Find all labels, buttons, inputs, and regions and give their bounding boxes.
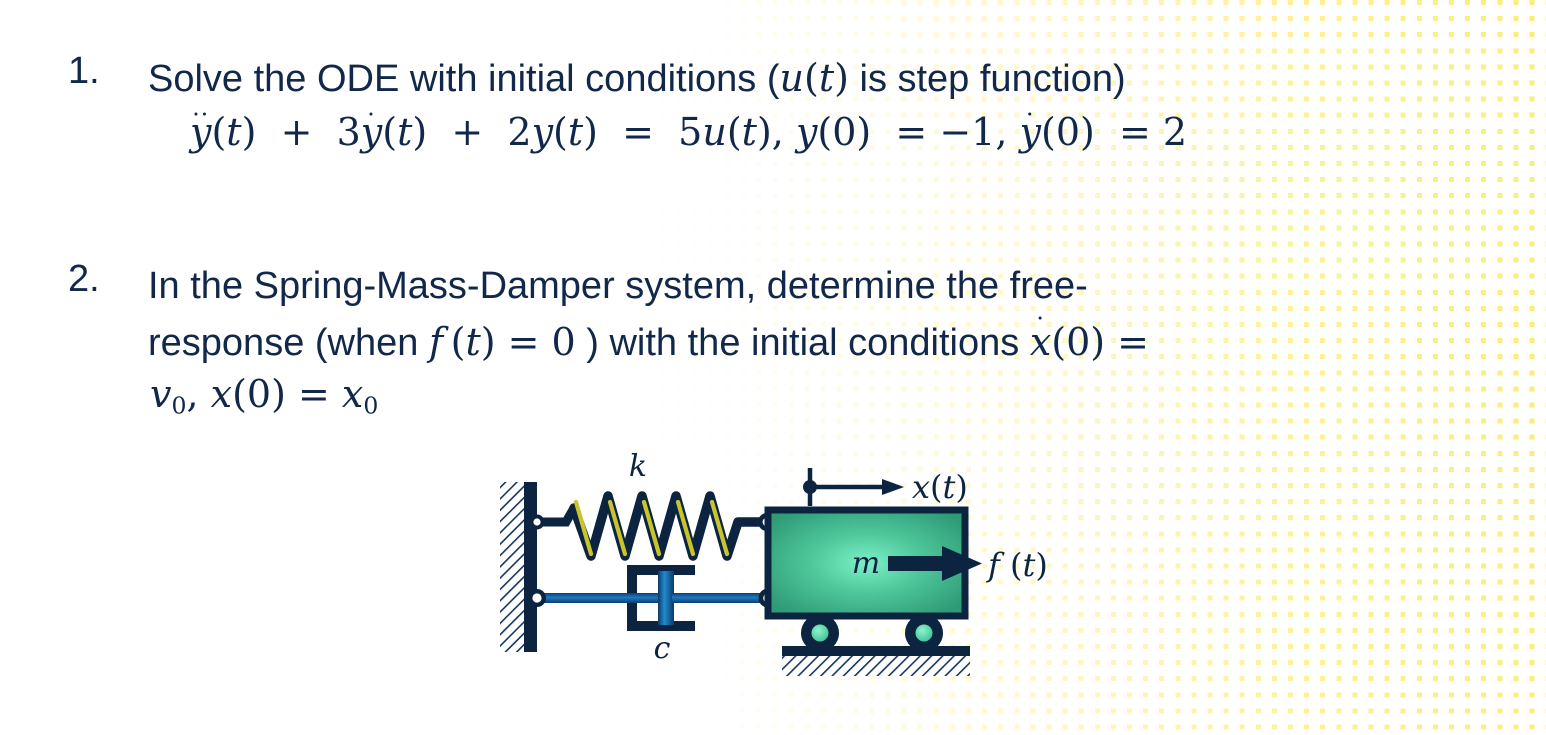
question-1-prompt-math-arg: (t) <box>804 56 849 100</box>
x-paren-zero: (0) <box>232 372 286 416</box>
spring-wall-pin-center <box>533 518 540 525</box>
eq-y-initial: −1 <box>939 110 995 154</box>
force-arrow-shaft <box>888 556 946 571</box>
eq-paren-5: (0) <box>817 110 871 154</box>
spring-label-k: k <box>629 449 647 484</box>
spring-mass-damper-diagram: k c <box>490 440 1050 690</box>
wall-support <box>500 482 537 652</box>
x-single-dot: x· <box>1030 314 1051 371</box>
question-1-prompt-math: u <box>780 56 804 100</box>
wheel-left-hub <box>812 625 829 642</box>
force-label-ft: f (t) <box>986 546 1048 584</box>
damper-assembly: c <box>528 570 778 666</box>
eq-comma-1: , <box>772 110 796 154</box>
xdot-initial-math: x·(0) = <box>1030 320 1149 364</box>
question-2-line-3: v0, x(0) = x0 <box>150 372 378 420</box>
eq-equals-1: = <box>610 110 666 154</box>
x-subscript-zero: 0 <box>363 392 378 420</box>
question-2-number: 2. <box>68 260 100 298</box>
eq-coef-damping: 3 <box>337 110 361 154</box>
question-1-equation: y··(t) + 3y·(t) + 2y(t) = 5u(t), y(0) = … <box>190 110 1187 154</box>
v-subscript-zero: 0 <box>171 392 186 420</box>
question-2-line-2: response (when f (t) = 0 ) with the init… <box>148 314 1149 372</box>
eq-paren-1: (t) <box>211 110 256 154</box>
ydot-ic: y· <box>1020 110 1041 154</box>
ground <box>782 646 970 676</box>
question-1-prompt: Solve the ODE with initial conditions (u… <box>148 50 1126 108</box>
question-2-line-2-b: ) with the initial conditions <box>576 322 1030 364</box>
question-2-line-2-a: response (when <box>148 322 429 364</box>
displacement-indicator: x(t) <box>803 468 968 506</box>
question-2-line-1: In the Spring-Mass-Damper system, determ… <box>148 258 1088 315</box>
eq-ydot-initial: 2 <box>1163 110 1187 154</box>
x-symbol: x <box>211 372 232 416</box>
damper-label-c: c <box>654 631 671 666</box>
eq-comma-2: , <box>995 110 1019 154</box>
mass-label-m: m <box>852 546 880 581</box>
wall-face <box>524 482 537 652</box>
eq-y: y <box>532 110 553 154</box>
eq-paren-2: (t) <box>382 110 427 154</box>
comma: , <box>186 372 210 416</box>
spring-coil-outline <box>574 496 767 556</box>
eq-equals-2: = <box>883 110 939 154</box>
eq-paren-6: (0) <box>1041 110 1095 154</box>
wheel-right-hub <box>916 625 933 642</box>
displacement-arrow-head <box>882 479 904 495</box>
eq-paren-4: (t) <box>727 110 772 154</box>
force-zero-math: f (t) = 0 <box>429 320 576 364</box>
eq-y-ic: y <box>796 110 817 154</box>
question-1-number: 1. <box>68 52 100 90</box>
mass-assembly: m <box>768 510 965 652</box>
eq-forcing-amp: 5 <box>678 110 702 154</box>
y-single-dot: y· <box>361 110 382 154</box>
eq-plus-1: + <box>269 110 325 154</box>
damper-rod-left <box>537 593 665 603</box>
eq-plus-2: + <box>439 110 495 154</box>
damper-wall-pin-center <box>532 593 541 602</box>
equals-sign: = <box>286 372 342 416</box>
eq-u: u <box>702 110 726 154</box>
displacement-label-xt: x(t) <box>912 468 968 506</box>
double-dot-accent: ·· <box>192 103 209 127</box>
eq-coef-stiffness: 2 <box>507 110 531 154</box>
question-1-prompt-suffix: is step function) <box>849 58 1126 100</box>
damper-piston <box>658 571 674 625</box>
x0-symbol: x <box>342 372 363 416</box>
wall-hatching <box>500 482 526 652</box>
eq-paren-3: (t) <box>553 110 598 154</box>
question-1-prompt-prefix: Solve the ODE with initial conditions ( <box>148 58 780 100</box>
ground-hatching <box>782 656 970 676</box>
ground-surface <box>782 646 970 656</box>
v-symbol: v <box>150 372 171 416</box>
single-dot-accent: · <box>367 103 375 127</box>
single-dot-accent-3: · <box>1036 307 1044 331</box>
spring-assembly: k <box>530 449 777 556</box>
damper-rod-right <box>672 593 768 603</box>
eq-equals-3: = <box>1107 110 1163 154</box>
single-dot-accent-2: · <box>1026 103 1034 127</box>
y-double-dot: y·· <box>190 110 211 154</box>
